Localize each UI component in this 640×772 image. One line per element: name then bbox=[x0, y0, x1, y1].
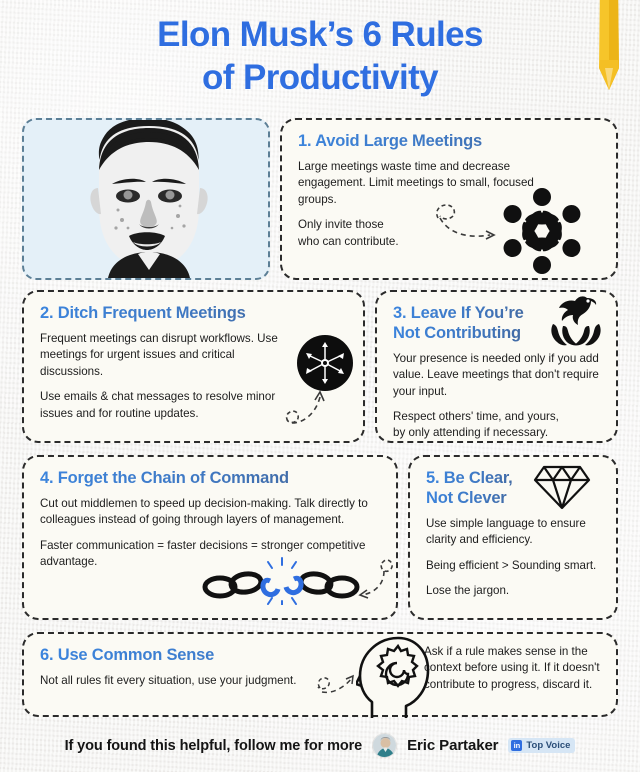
rule-3-paragraph-2: Respect others' time, and yours, by only… bbox=[393, 409, 602, 442]
rule-card-6: 6. Use Common Sense Not all rules fit ev… bbox=[22, 632, 618, 717]
status-badge: in Top Voice bbox=[508, 738, 575, 753]
badge-label: Top Voice bbox=[526, 740, 570, 751]
rule-2-title: 2. Ditch Frequent Meetings bbox=[40, 304, 349, 324]
curved-dashed-arrow-down-left-4 bbox=[354, 553, 398, 601]
rule-5-paragraph-3: Lose the jargon. bbox=[426, 583, 602, 599]
head-with-gear-icon bbox=[356, 632, 430, 720]
author-name: Eric Partaker bbox=[407, 737, 498, 754]
rule-5-paragraph-1: Use simple language to ensure clarity an… bbox=[426, 516, 602, 549]
rule-2-paragraph-2: Use emails & chat messages to resolve mi… bbox=[40, 389, 292, 422]
title-line-1: Elon Musk’s 6 Rules bbox=[0, 14, 640, 57]
rule-card-2: 2. Ditch Frequent Meetings Frequent meet… bbox=[22, 290, 365, 443]
footer-cta: If you found this helpful, follow me for… bbox=[0, 733, 640, 758]
infographic-page: Elon Musk’s 6 Rules of Productivity bbox=[0, 0, 640, 772]
diamond-gem-icon bbox=[532, 461, 592, 513]
page-title: Elon Musk’s 6 Rules of Productivity bbox=[0, 0, 640, 99]
rule-card-4: 4. Forget the Chain of Command Cut out m… bbox=[22, 455, 398, 620]
rule-4-title: 4. Forget the Chain of Command bbox=[40, 469, 382, 489]
author-avatar bbox=[372, 733, 397, 758]
curved-dashed-arrow-right-1 bbox=[428, 198, 502, 246]
rule-4-paragraph-1: Cut out middlemen to speed up decision-m… bbox=[40, 496, 382, 529]
dove-in-hands-icon bbox=[547, 294, 605, 346]
group-circle-meeting-icon bbox=[495, 186, 589, 276]
breaking-chain-icon bbox=[202, 557, 362, 605]
curved-dashed-arrow-up-right-2 bbox=[282, 387, 332, 433]
rule-card-5: 5. Be Clear, Not Clever Use simple langu… bbox=[408, 455, 618, 620]
elon-musk-portrait bbox=[46, 118, 246, 278]
rule-3-paragraph-1: Your presence is needed only if you add … bbox=[393, 351, 602, 400]
rule-2-paragraph-1: Frequent meetings can disrupt workflows.… bbox=[40, 331, 298, 380]
title-line-2: of Productivity bbox=[0, 57, 640, 100]
rule-6-side-paragraph: Ask if a rule makes sense in the context… bbox=[424, 644, 602, 693]
footer-cta-text: If you found this helpful, follow me for… bbox=[65, 738, 363, 754]
yellow-pencil-icon bbox=[592, 0, 626, 102]
portrait-card bbox=[22, 118, 270, 280]
rule-card-3: 3. Leave If You’re Not Contributing Your… bbox=[375, 290, 618, 443]
rule-card-1: 1. Avoid Large Meetings Large meetings w… bbox=[280, 118, 618, 280]
rule-5-paragraph-2: Being efficient > Sounding smart. bbox=[426, 558, 602, 574]
rule-5-title: 5. Be Clear, Not Clever bbox=[426, 469, 536, 509]
rule-3-title: 3. Leave If You’re Not Contributing bbox=[393, 304, 558, 344]
radial-network-disc-icon bbox=[297, 335, 353, 391]
linkedin-icon: in bbox=[511, 740, 522, 751]
rule-1-title: 1. Avoid Large Meetings bbox=[298, 132, 602, 152]
